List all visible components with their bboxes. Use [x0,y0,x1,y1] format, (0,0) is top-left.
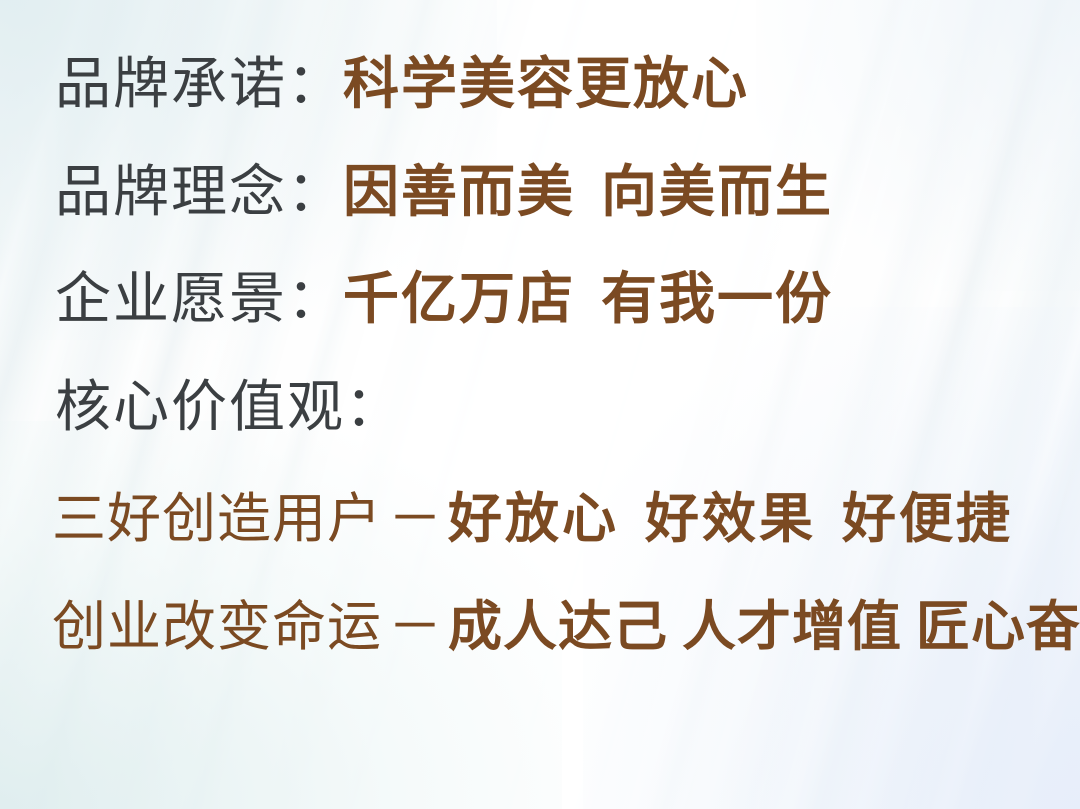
brand-promise-colon: ： [287,54,343,116]
brand-promise-line: 品牌承诺：科学美容更放心 [55,57,749,113]
corporate-vision-value-2: 有我一份 [601,269,833,331]
corporate-vision-value-1: 千亿万店 [343,269,575,331]
brand-philosophy-value-1: 因善而美 [343,162,575,224]
core-value-2-item-3: 匠心奋斗 [916,597,1080,657]
text-content: 品牌承诺：科学美容更放心 品牌理念：因善而美向美而生 企业愿景：千亿万店有我一份… [0,0,1080,809]
corporate-vision-label: 企业愿景 [55,269,287,331]
core-value-1-item-2: 好效果 [645,489,816,549]
corporate-vision-line: 企业愿景：千亿万店有我一份 [55,272,833,328]
core-value-2-line: 创业改变命运－成人达己人才增值匠心奋斗 [52,600,1080,654]
brand-philosophy-value-2: 向美而生 [601,162,833,224]
core-value-2-prefix: 创业改变命运 [52,597,382,657]
core-value-1-item-1: 好放心 [448,489,619,549]
corporate-vision-colon: ： [287,269,343,331]
core-value-2-item-2: 人才增值 [682,597,902,657]
core-values-heading-label: 核心价值观 [55,377,345,439]
brand-philosophy-label: 品牌理念 [55,162,287,224]
brand-promise-value: 科学美容更放心 [343,54,749,116]
core-value-1-line: 三好创造用户－好放心好效果好便捷 [52,492,1013,546]
brand-promise-label: 品牌承诺 [55,54,287,116]
brand-philosophy-colon: ： [287,162,343,224]
core-value-2-dash: － [382,597,448,657]
core-values-heading-line: 核心价值观： [55,380,401,436]
brand-culture-slide: 品牌承诺：科学美容更放心 品牌理念：因善而美向美而生 企业愿景：千亿万店有我一份… [0,0,1080,809]
core-value-1-item-3: 好便捷 [842,489,1013,549]
core-value-2-item-1: 成人达己 [448,597,668,657]
core-value-1-prefix: 三好创造用户 [52,489,382,549]
core-value-1-dash: － [382,489,448,549]
core-values-heading-colon: ： [345,377,401,439]
brand-philosophy-line: 品牌理念：因善而美向美而生 [55,165,833,221]
